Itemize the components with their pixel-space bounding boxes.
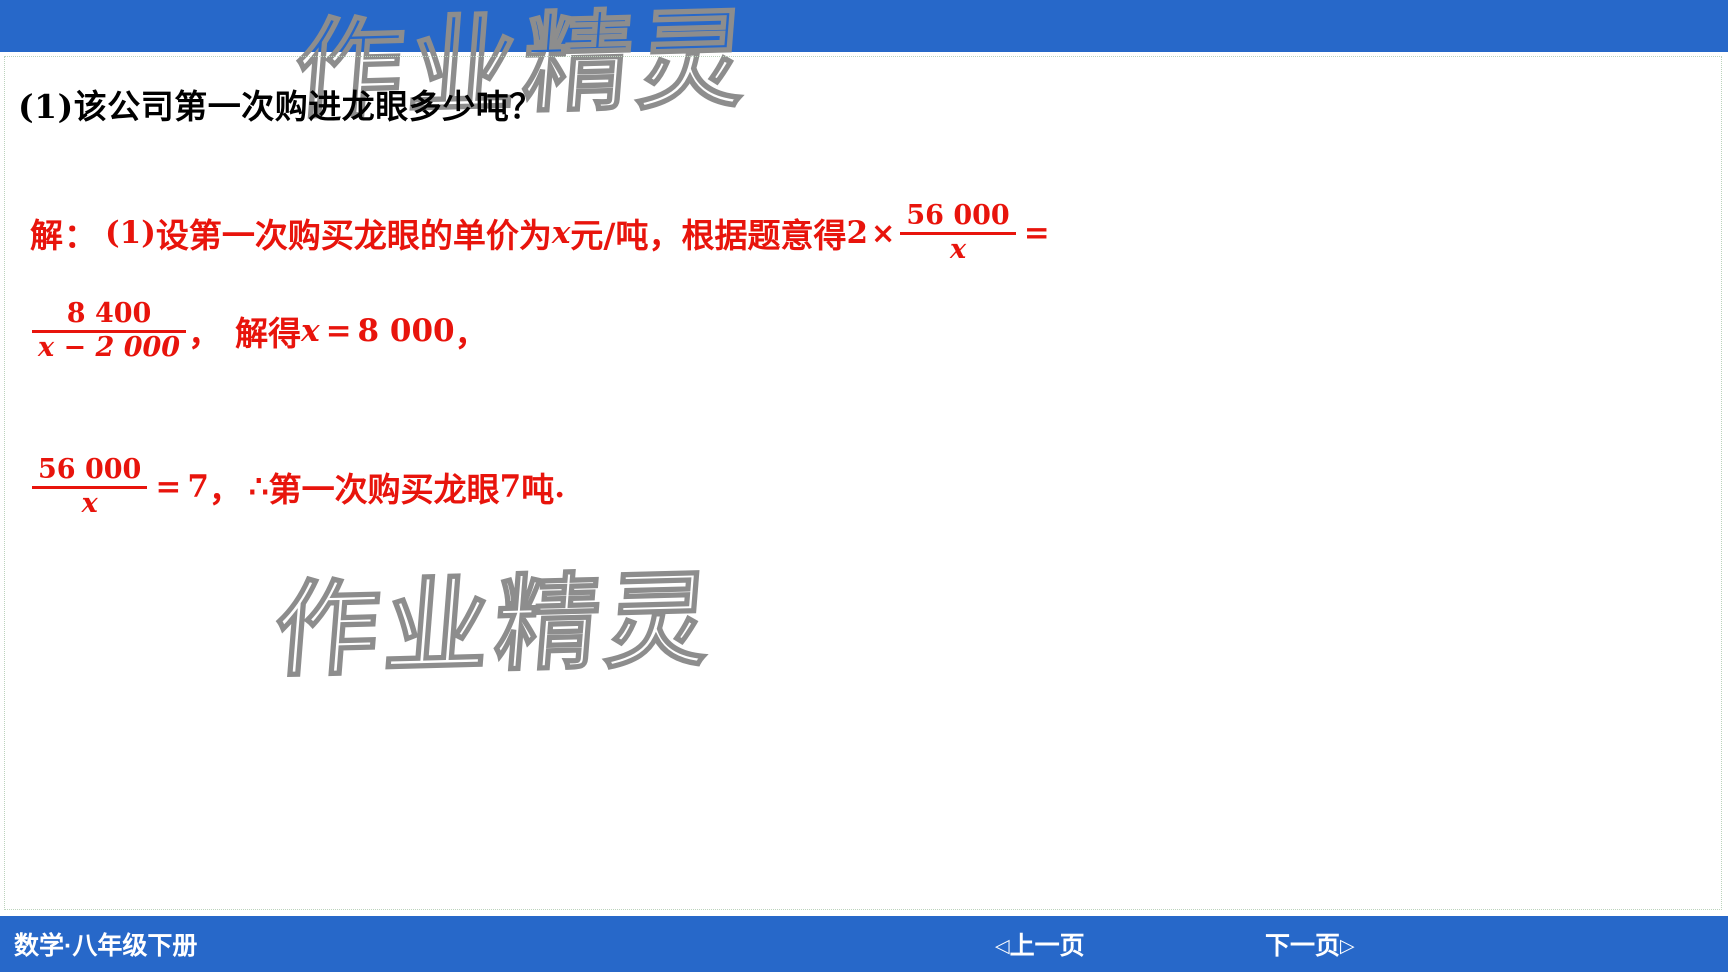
book-title-label: 数学·八年级下册 [14,926,197,962]
solution-line1-coefficient: 2 [846,215,868,251]
solution-line1-variable: x [552,215,570,251]
solution-line1-body2: 根据题意得 [681,209,846,257]
next-page-button[interactable]: 下一页▷ [1265,926,1355,962]
equals-sign-line2: = [320,313,358,349]
fraction-numerator: 56 000 [900,202,1015,231]
fraction-denominator: x [76,489,104,518]
next-page-label: 下一页 [1265,932,1340,960]
fraction-line1: 56 000 x [900,202,1015,264]
equals-sign-line3: = [149,469,187,505]
solution-line2-value: 8 000 [358,313,455,349]
solution-line2-body: 解得 [235,307,301,355]
solution-line-1: 解： (1) 设第一次购买龙眼的单价为 x 元/吨， 根据题意得 2 × 56 … [30,185,1530,281]
fraction-numerator: 56 000 [32,456,147,485]
solution-prefix: 解： [30,209,98,257]
fraction-numerator: 8 400 [61,300,158,329]
therefore-symbol-icon: ∴ [249,469,269,505]
solution-part-label: (1) [105,215,156,251]
solution-line1-body: 设第一次购买龙眼的单价为 [156,209,552,257]
prev-page-button[interactable]: ◁上一页 [995,926,1085,962]
fraction-denominator: x − 2 000 [32,333,186,362]
solution-line-3: 56 000 x = 7 ， ∴ 第一次购买龙眼 7 吨 . [30,439,1530,535]
solution-line3-unit: 吨 [521,463,554,511]
solution-line2-variable: x [301,313,319,349]
prev-page-label: 上一页 [1010,932,1085,960]
top-blue-band [0,0,1728,52]
equals-sign-line1: = [1018,215,1056,251]
chevron-left-icon: ◁ [995,936,1010,957]
solution-line1-unit: 元/吨， [570,209,681,257]
chevron-right-icon: ▷ [1340,936,1355,957]
fraction-line3: 56 000 x [32,456,147,518]
multiply-sign-icon: × [868,216,898,250]
bottom-footer-bar: 数学·八年级下册 ◁上一页 下一页▷ [0,916,1728,972]
solution-line-2: 8 400 x − 2 000 ， 解得 x = 8 000 ， [30,283,1530,379]
solution-line3-comma: ， [209,463,242,511]
solution-line2-comma2: ， [455,307,488,355]
solution-block: 解： (1) 设第一次购买龙眼的单价为 x 元/吨， 根据题意得 2 × 56 … [30,185,1530,535]
solution-line2-comma: ， [188,307,221,355]
question-text: (1)该公司第一次购进龙眼多少吨？ [18,80,543,128]
solution-line3-answer: 7 [500,469,522,505]
solution-line3-body: 第一次购买龙眼 [269,463,500,511]
fraction-denominator: x [944,235,972,264]
solution-line3-period: . [554,469,565,505]
solution-line3-value: 7 [187,469,209,505]
slide-canvas: 作业精灵 (1)该公司第一次购进龙眼多少吨？ 解： (1) 设第一次购买龙眼的单… [0,0,1728,972]
fraction-line2: 8 400 x − 2 000 [32,300,186,362]
